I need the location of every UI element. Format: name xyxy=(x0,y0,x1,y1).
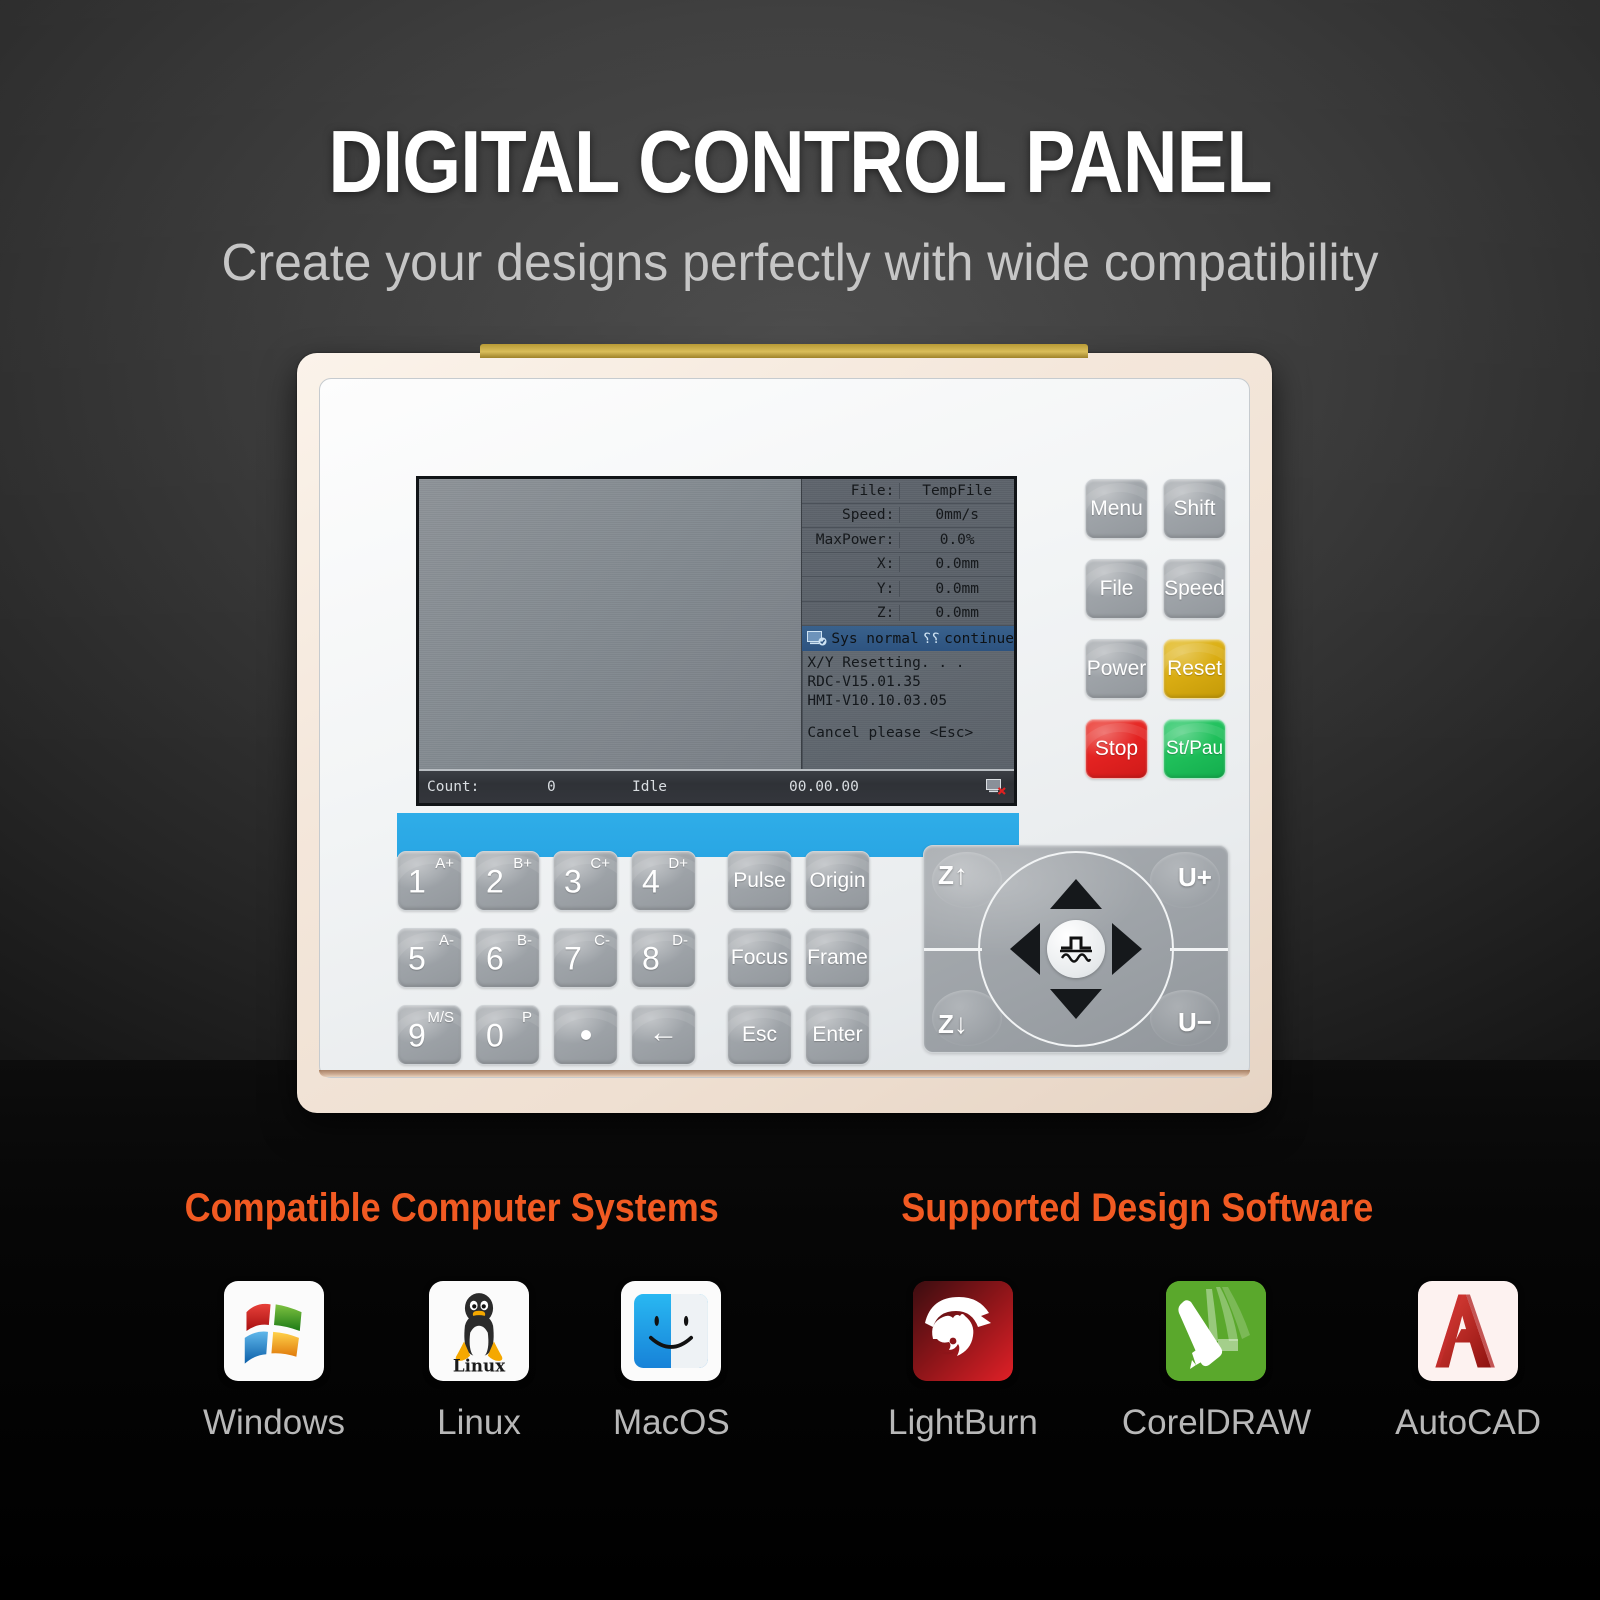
stat-label: MaxPower: xyxy=(802,532,900,548)
arrow-down-icon[interactable] xyxy=(1050,989,1102,1019)
divider xyxy=(1170,948,1228,951)
key-6[interactable]: 6 B- xyxy=(475,928,540,988)
key-focus[interactable]: Focus xyxy=(727,928,792,988)
key-menu[interactable]: Menu xyxy=(1085,479,1148,539)
key-0[interactable]: 0 P xyxy=(475,1005,540,1065)
lcd-message-box: X/Y Resetting. . . RDC-V15.01.35 HMI-V10… xyxy=(802,651,1014,769)
os-label: MacOS xyxy=(613,1403,730,1443)
key-origin[interactable]: Origin xyxy=(805,851,870,911)
lcd-design-canvas[interactable] xyxy=(419,479,802,769)
lcd-screen: File: TempFile Speed: 0mm/s MaxPower: 0.… xyxy=(416,476,1017,806)
table-row: Z: 0.0mm xyxy=(802,602,1014,627)
key-start-pause[interactable]: St/Pau xyxy=(1163,719,1226,779)
key-stop[interactable]: Stop xyxy=(1085,719,1148,779)
key-digit: 2 xyxy=(486,866,504,898)
key-1[interactable]: 1 A+ xyxy=(397,851,462,911)
dot-icon xyxy=(581,1030,591,1040)
key-enter[interactable]: Enter xyxy=(805,1005,870,1065)
software-label: LightBurn xyxy=(888,1403,1038,1443)
key-esc[interactable]: Esc xyxy=(727,1005,792,1065)
key-power[interactable]: Power xyxy=(1085,639,1148,699)
key-pulse[interactable]: Pulse xyxy=(727,851,792,911)
divider xyxy=(924,948,982,951)
windows-logo-icon xyxy=(224,1281,324,1381)
key-digit: 7 xyxy=(564,943,582,975)
system-status-bar: Sys normal ⸮⸮ continue xyxy=(802,626,1014,651)
os-label: Windows xyxy=(203,1403,345,1443)
os-label: Linux xyxy=(437,1403,521,1443)
message-line: RDC-V15.01.35 xyxy=(807,673,1014,692)
key-superscript: B- xyxy=(517,933,532,948)
key-z-down[interactable]: Z↓ xyxy=(938,1009,968,1040)
macos-finder-icon xyxy=(621,1281,721,1381)
key-8[interactable]: 8 D- xyxy=(631,928,696,988)
message-line: HMI-V10.10.03.05 xyxy=(807,692,1014,711)
arrow-left-icon[interactable] xyxy=(1010,923,1040,975)
stat-value: 0mm/s xyxy=(900,507,1014,523)
key-z-up[interactable]: Z↑ xyxy=(938,860,968,891)
key-superscript: A- xyxy=(439,933,454,948)
control-panel-device: File: TempFile Speed: 0mm/s MaxPower: 0.… xyxy=(297,353,1272,1113)
elapsed-time: 00.00.00 xyxy=(789,779,859,795)
os-item-windows[interactable]: Windows xyxy=(203,1281,345,1443)
page-title: DIGITAL CONTROL PANEL xyxy=(112,118,1488,206)
lcd-info-panel: File: TempFile Speed: 0mm/s MaxPower: 0.… xyxy=(802,479,1014,769)
key-5[interactable]: 5 A- xyxy=(397,928,462,988)
stat-label: Z: xyxy=(802,605,900,621)
stat-label: Y: xyxy=(802,581,900,597)
software-item-lightburn[interactable]: LightBurn xyxy=(888,1281,1038,1443)
table-row: X: 0.0mm xyxy=(802,553,1014,578)
os-item-linux[interactable]: Linux Linux xyxy=(429,1281,529,1443)
linux-tux-icon: Linux xyxy=(429,1281,529,1381)
key-decimal-point[interactable] xyxy=(553,1005,618,1065)
software-item-coreldraw[interactable]: CorelDRAW xyxy=(1122,1281,1311,1443)
pulse-wave-icon[interactable] xyxy=(1047,920,1105,978)
os-icon-row: Windows Linux Linux xyxy=(203,1281,730,1443)
stat-value: 0.0mm xyxy=(900,605,1014,621)
system-status-text: Sys normal xyxy=(831,631,918,647)
stat-label: X: xyxy=(802,556,900,572)
key-digit: 1 xyxy=(408,866,426,898)
key-superscript: D- xyxy=(672,933,688,948)
machine-state: Idle xyxy=(632,779,667,795)
key-digit: 3 xyxy=(564,866,582,898)
key-digit: 9 xyxy=(408,1020,426,1052)
key-9[interactable]: 9 M/S xyxy=(397,1005,462,1065)
software-label: CorelDRAW xyxy=(1122,1403,1311,1443)
os-item-macos[interactable]: MacOS xyxy=(613,1281,730,1443)
key-superscript: C- xyxy=(594,933,610,948)
faceplate-bottom-shadow xyxy=(319,1070,1250,1077)
section-title-software: Supported Design Software xyxy=(901,1186,1373,1231)
key-u-minus[interactable]: U− xyxy=(1178,1007,1212,1038)
message-line: Cancel please <Esc> xyxy=(807,724,1014,743)
message-line: X/Y Resetting. . . xyxy=(807,654,1014,673)
arrow-up-icon[interactable] xyxy=(1050,879,1102,909)
lcd-main-area: File: TempFile Speed: 0mm/s MaxPower: 0.… xyxy=(419,479,1014,769)
key-file[interactable]: File xyxy=(1085,559,1148,619)
key-superscript: B+ xyxy=(513,856,532,871)
key-u-plus[interactable]: U+ xyxy=(1178,862,1212,893)
key-superscript: M/S xyxy=(427,1010,454,1025)
stat-label: Speed: xyxy=(802,507,900,523)
monitor-check-icon xyxy=(807,631,827,646)
key-digit: 4 xyxy=(642,866,660,898)
autocad-a-icon xyxy=(1418,1281,1518,1381)
count-label: Count: xyxy=(427,779,479,795)
stat-value: TempFile xyxy=(900,483,1014,499)
key-digit: 6 xyxy=(486,943,504,975)
svg-text:Linux: Linux xyxy=(453,1355,506,1375)
key-reset[interactable]: Reset xyxy=(1163,639,1226,699)
key-4[interactable]: 4 D+ xyxy=(631,851,696,911)
dpad-ring xyxy=(978,851,1174,1047)
spacer xyxy=(807,711,1014,724)
table-row: MaxPower: 0.0% xyxy=(802,528,1014,553)
key-label: Z xyxy=(938,1009,954,1040)
key-label: Z xyxy=(938,860,954,891)
key-digit: 8 xyxy=(642,943,660,975)
key-superscript: A+ xyxy=(435,856,454,871)
device-top-gold-edge xyxy=(480,344,1088,358)
key-3[interactable]: 3 C+ xyxy=(553,851,618,911)
key-frame[interactable]: Frame xyxy=(805,928,870,988)
key-superscript: P xyxy=(522,1010,532,1025)
table-row: Speed: 0mm/s xyxy=(802,504,1014,529)
key-superscript: D+ xyxy=(668,856,688,871)
left-arrow-icon: ← xyxy=(649,1016,679,1050)
key-shift[interactable]: Shift xyxy=(1163,479,1226,539)
page-subtitle: Create your designs perfectly with wide … xyxy=(32,232,1568,294)
arrow-right-icon[interactable] xyxy=(1112,923,1142,975)
system-status-text2: continue xyxy=(944,631,1014,647)
table-row: Y: 0.0mm xyxy=(802,577,1014,602)
stat-value: 0.0% xyxy=(900,532,1014,548)
key-superscript: C+ xyxy=(590,856,610,871)
wave-icon: ⸮⸮ xyxy=(923,631,940,647)
key-digit: 5 xyxy=(408,943,426,975)
device-faceplate: File: TempFile Speed: 0mm/s MaxPower: 0.… xyxy=(319,378,1250,1078)
software-icon-row: LightBurn CorelDRAW Au xyxy=(888,1281,1541,1443)
monitor-disconnected-icon xyxy=(986,779,1006,795)
stat-value: 0.0mm xyxy=(900,556,1014,572)
key-speed[interactable]: Speed xyxy=(1163,559,1226,619)
software-item-autocad[interactable]: AutoCAD xyxy=(1395,1281,1541,1443)
key-digit: 0 xyxy=(486,1020,504,1052)
stat-value: 0.0mm xyxy=(900,581,1014,597)
stat-label: File: xyxy=(802,483,900,499)
key-2[interactable]: 2 B+ xyxy=(475,851,540,911)
direction-pad: Z↑ Z↓ U+ U− xyxy=(923,845,1229,1053)
software-label: AutoCAD xyxy=(1395,1403,1541,1443)
key-7[interactable]: 7 C- xyxy=(553,928,618,988)
section-title-os: Compatible Computer Systems xyxy=(185,1186,719,1231)
key-backspace[interactable]: ← xyxy=(631,1005,696,1065)
table-row: File: TempFile xyxy=(802,479,1014,504)
count-value: 0 xyxy=(547,779,556,795)
coreldraw-balloon-icon xyxy=(1166,1281,1266,1381)
lcd-status-bar: Count: 0 Idle 00.00.00 xyxy=(419,769,1014,803)
lightburn-dragon-icon xyxy=(913,1281,1013,1381)
